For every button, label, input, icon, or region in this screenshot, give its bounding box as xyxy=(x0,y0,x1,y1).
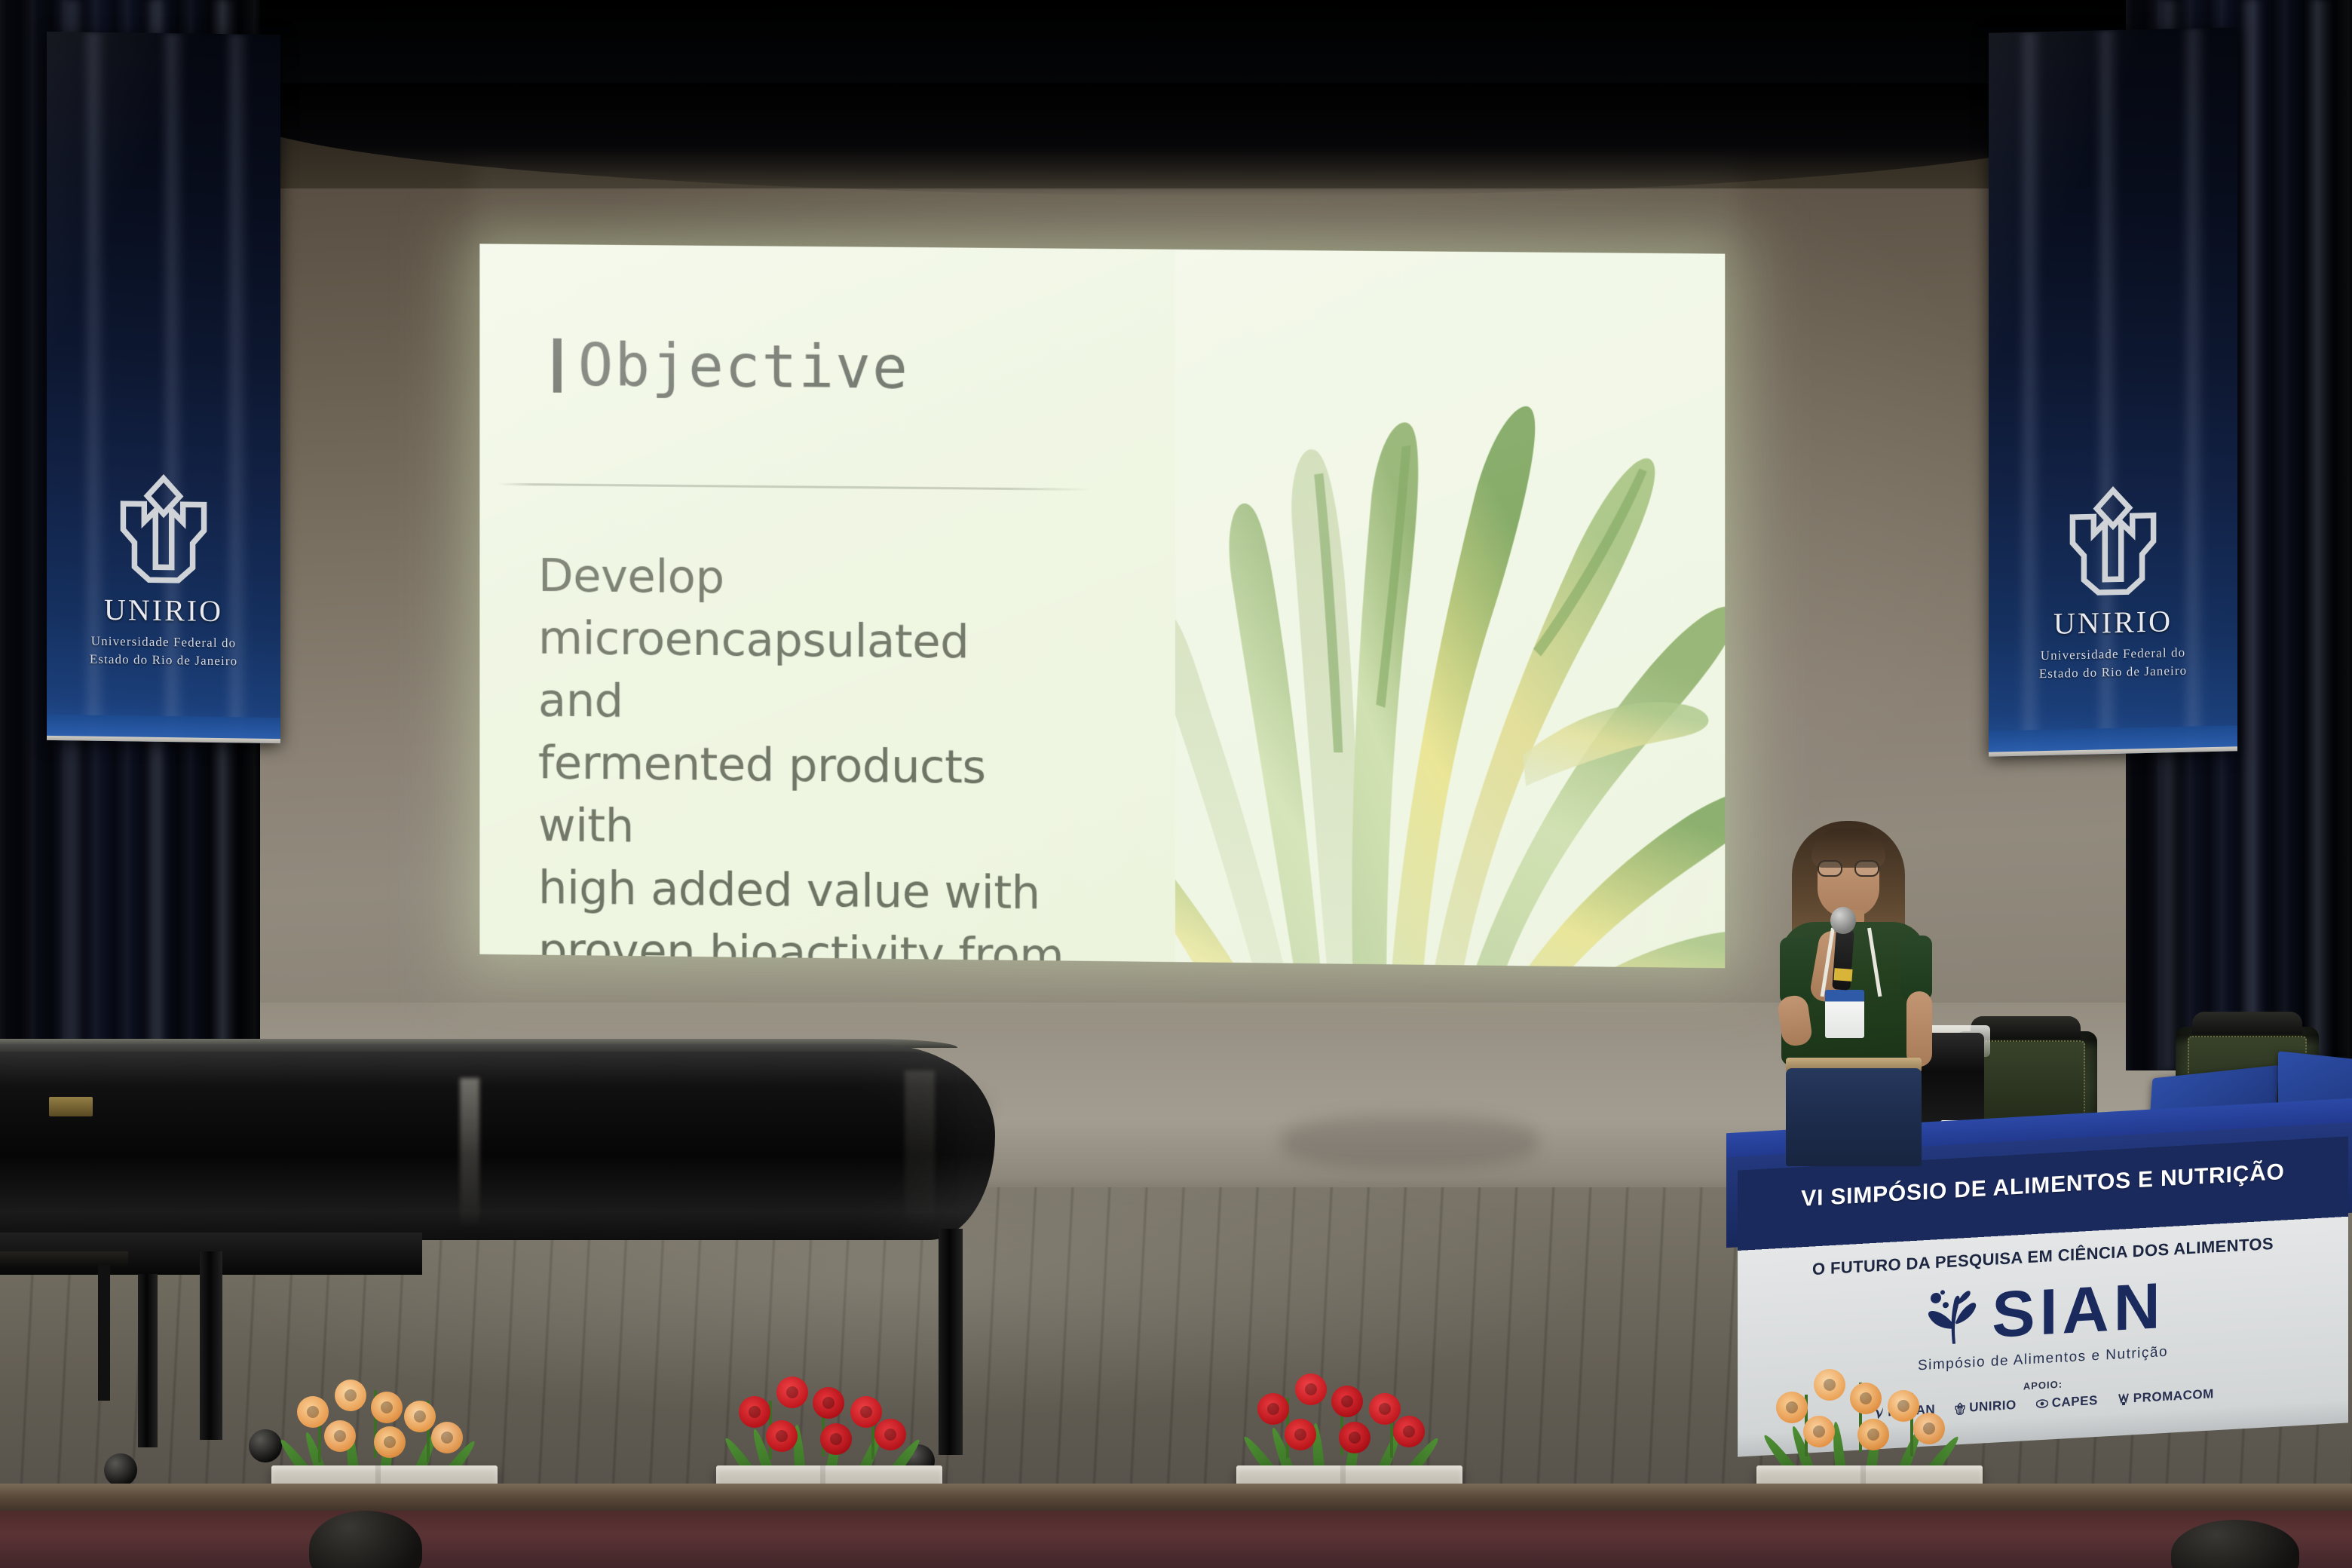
piano-highlight xyxy=(460,1078,479,1229)
slide-text-column: Objective Develop microencapsulated and … xyxy=(479,243,1175,962)
unirio-logo-icon xyxy=(2063,482,2163,598)
unirio-subtitle: Universidade Federal do Estado do Rio de… xyxy=(47,632,280,672)
slide-title: Objective xyxy=(578,336,909,398)
piano-bench-leg xyxy=(98,1265,110,1401)
orange-gerbera-bloom xyxy=(1803,1416,1835,1447)
promacom-mark-icon xyxy=(2118,1392,2130,1407)
piano-leg xyxy=(200,1251,222,1440)
orange-gerbera-bloom xyxy=(404,1401,436,1432)
unirio-wordmark: UNIRIO xyxy=(1989,605,2237,640)
red-gerbera-bloom xyxy=(766,1420,798,1452)
slide-body-line: Develop xyxy=(538,545,1064,612)
orange-gerbera-bloom xyxy=(1857,1419,1889,1450)
sponsor-capes: CAPES xyxy=(2036,1393,2098,1412)
orange-gerbera-bloom xyxy=(1814,1369,1845,1401)
unirio-banner-left: UNIRIO Universidade Federal do Estado do… xyxy=(47,32,280,743)
stage-edge-trim xyxy=(0,1484,2352,1514)
microphone-icon xyxy=(1830,907,1856,934)
slide-illustration-column xyxy=(1175,250,1725,968)
eyeglasses-icon xyxy=(1818,860,1879,877)
sponsor-name: PROMACOM xyxy=(2133,1386,2214,1406)
orange-gerbera-bloom xyxy=(297,1396,329,1428)
orange-gerbera-bloom xyxy=(1913,1413,1945,1444)
slide-body-text: Develop microencapsulated and fermented … xyxy=(538,545,1064,968)
red-gerbera-bloom xyxy=(850,1396,882,1428)
unirio-banner-right: UNIRIO Universidade Federal do Estado do… xyxy=(1989,27,2237,756)
curtain-fold xyxy=(2239,0,2265,1070)
presentation-photograph: Objective Develop microencapsulated and … xyxy=(0,0,2352,1568)
red-gerbera-bloom xyxy=(776,1377,808,1408)
piano-caster xyxy=(104,1453,137,1487)
unirio-subtitle: Universidade Federal do Estado do Rio de… xyxy=(1989,642,2237,685)
piano-case xyxy=(0,1052,995,1240)
red-gerbera-bloom xyxy=(1369,1393,1401,1425)
orange-gerbera-bloom xyxy=(431,1422,463,1453)
presenter xyxy=(1753,818,1956,1135)
red-gerbera-bloom xyxy=(813,1387,844,1419)
red-gerbera-bloom xyxy=(1393,1416,1425,1447)
sian-wordmark: SIAN xyxy=(1992,1277,2164,1345)
slide-title-group: Objective xyxy=(553,336,909,398)
presenter-sleeve xyxy=(1780,937,1813,1005)
red-gerbera-bloom xyxy=(820,1423,852,1455)
sian-sprout-icon xyxy=(1921,1283,1984,1353)
red-gerbera-bloom xyxy=(1285,1419,1316,1450)
curtain-fold xyxy=(2307,0,2332,1070)
chair-crest xyxy=(2192,1012,2302,1034)
unirio-subtitle-line2: Estado do Rio de Janeiro xyxy=(47,650,280,672)
unirio-logo-icon xyxy=(114,471,213,586)
presenter-jeans xyxy=(1786,1068,1922,1166)
red-gerbera-bloom xyxy=(1339,1422,1370,1453)
pineapple-crown-illustration xyxy=(1175,250,1725,968)
slide-body-line: fermented products with xyxy=(538,732,1064,862)
piano-brand-plate xyxy=(49,1097,93,1116)
slide-body-line: high added value with xyxy=(538,857,1064,925)
red-gerbera-bloom xyxy=(1331,1386,1363,1417)
red-gerbera-bloom xyxy=(1257,1393,1289,1425)
red-gerbera-bloom xyxy=(1295,1374,1327,1405)
orange-gerbera-bloom xyxy=(1850,1383,1882,1414)
piano-highlight xyxy=(905,1070,935,1229)
projected-slide: Objective Develop microencapsulated and … xyxy=(479,243,1725,968)
red-gerbera-bloom xyxy=(874,1419,906,1450)
presenter-sleeve xyxy=(1900,936,1932,1000)
unirio-wordmark: UNIRIO xyxy=(47,594,280,627)
wall-smudge xyxy=(1282,1116,1538,1168)
orange-gerbera-bloom xyxy=(1888,1390,1919,1422)
slide-body-line: microencapsulated and xyxy=(538,608,1064,738)
conference-badge xyxy=(1825,990,1864,1038)
microphone-band xyxy=(1833,968,1852,982)
title-accent-bar xyxy=(553,338,562,393)
slide-divider-rule xyxy=(498,483,1092,491)
orange-gerbera-bloom xyxy=(324,1420,356,1452)
sponsor-promacom: PROMACOM xyxy=(2118,1386,2214,1407)
red-gerbera-bloom xyxy=(739,1396,770,1428)
capes-eye-icon xyxy=(2036,1398,2048,1410)
presenter-right-arm xyxy=(1906,991,1932,1067)
sponsor-name: CAPES xyxy=(2052,1393,2098,1410)
orange-gerbera-bloom xyxy=(335,1380,366,1411)
orange-gerbera-bloom xyxy=(374,1426,406,1458)
orange-gerbera-bloom xyxy=(1776,1392,1808,1423)
piano-leg xyxy=(138,1274,158,1447)
orange-gerbera-bloom xyxy=(371,1392,403,1423)
